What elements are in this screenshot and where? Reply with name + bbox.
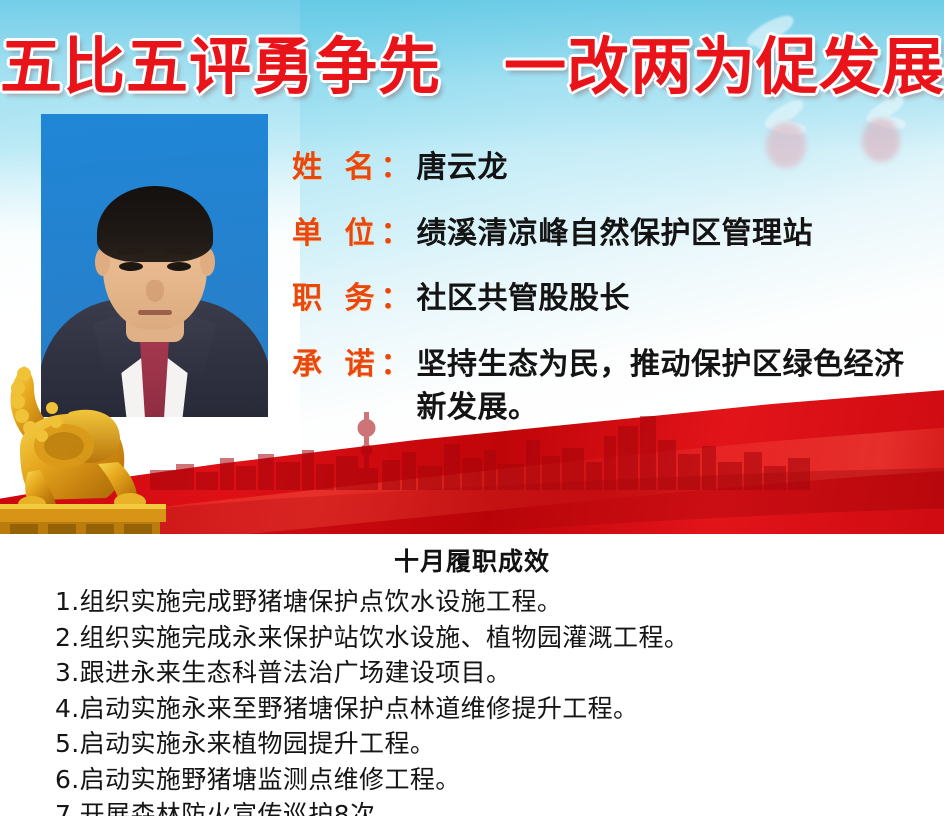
info-label-unit: 单 位：	[292, 212, 416, 256]
list-item: 6.启动实施野猪塘监测点维修工程。	[55, 762, 944, 798]
info-row-position: 职 务： 社区共管股股长	[292, 277, 928, 321]
list-item: 1.组织实施完成野猪塘保护点饮水设施工程。	[55, 584, 944, 620]
achievements-list: 1.组织实施完成野猪塘保护点饮水设施工程。 2.组织实施完成永来保护站饮水设施、…	[0, 584, 944, 816]
portrait-hair	[97, 186, 213, 262]
page-title: 五比五评勇争先 一改两为促发展	[0, 34, 944, 99]
info-value-name: 唐云龙	[416, 146, 508, 190]
poster-root: 五比五评勇争先 一改两为促发展 姓 名： 唐云龙 单 位： 绩溪清凉峰自然保护区…	[0, 0, 944, 816]
info-row-unit: 单 位： 绩溪清凉峰自然保护区管理站	[292, 212, 928, 256]
portrait-eye-right	[167, 262, 191, 271]
portrait-nose	[146, 280, 164, 302]
list-item: 2.组织实施完成永来保护站饮水设施、植物园灌溉工程。	[55, 620, 944, 656]
achievements-heading: 十月履职成效	[0, 534, 944, 578]
list-item: 7.开展森林防火宣传巡护8次。	[55, 797, 944, 816]
list-item: 5.启动实施永来植物园提升工程。	[55, 726, 944, 762]
info-value-position: 社区共管股股长	[416, 277, 630, 321]
city-skyline-icon	[150, 406, 810, 490]
guardian-lion-icon	[0, 352, 172, 540]
portrait-eye-left	[119, 262, 143, 271]
achievements-section: 十月履职成效 1.组织实施完成野猪塘保护点饮水设施工程。 2.组织实施完成永来保…	[0, 534, 944, 816]
list-item: 4.启动实施永来至野猪塘保护点林道维修提升工程。	[55, 691, 944, 727]
portrait-mouth	[138, 310, 172, 315]
info-row-name: 姓 名： 唐云龙	[292, 146, 928, 190]
list-item: 3.跟进永来生态科普法治广场建设项目。	[55, 655, 944, 691]
info-value-unit: 绩溪清凉峰自然保护区管理站	[416, 212, 813, 256]
info-label-name: 姓 名：	[292, 146, 416, 190]
info-label-position: 职 务：	[292, 277, 416, 321]
